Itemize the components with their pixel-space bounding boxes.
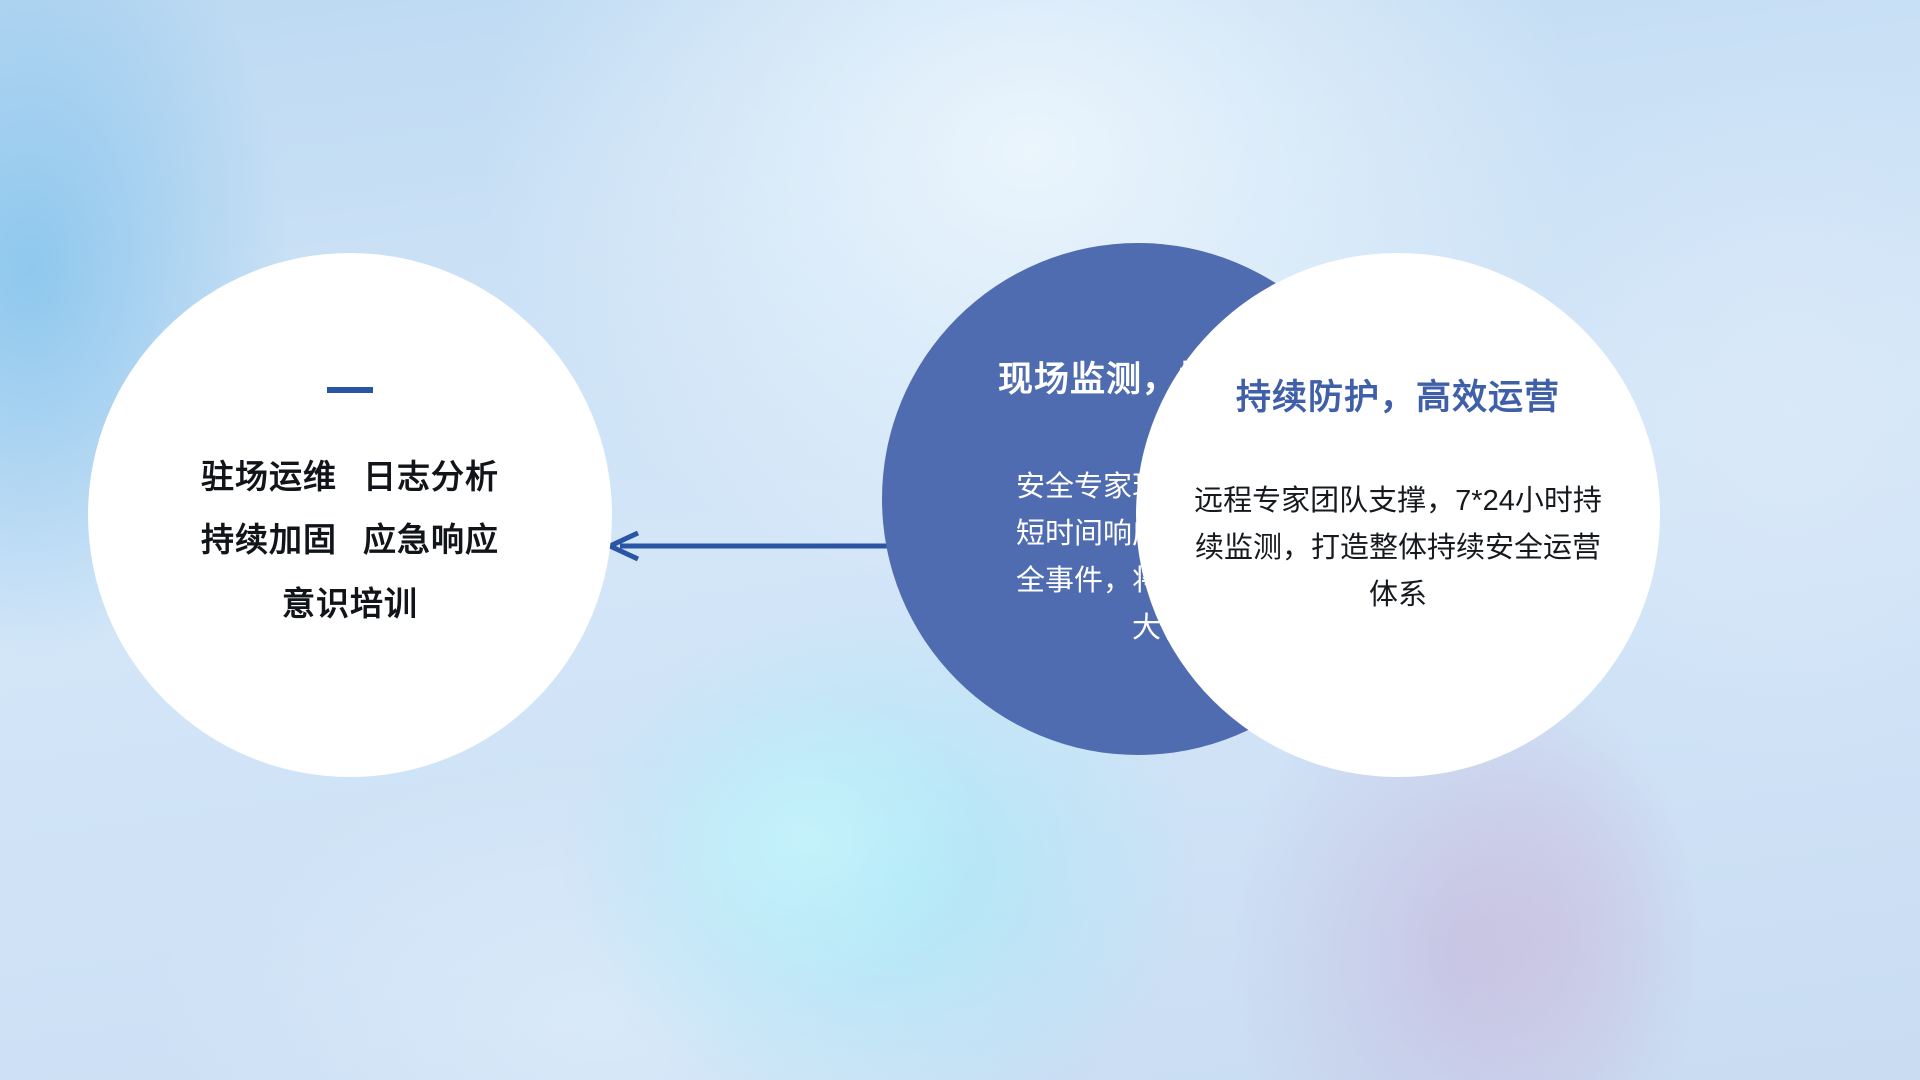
slide-canvas: 驻场运维日志分析 持续加固应急响应 意识培训 现场监测，快速响应 安全专家现场保…: [0, 0, 1920, 1080]
keyword-list: 驻场运维日志分析 持续加固应急响应 意识培训: [88, 445, 612, 635]
continuous-protection-title: 持续防护，高效运营: [1236, 369, 1560, 420]
continuous-protection-body: 远程专家团队支撑，7*24小时持续监测，打造整体持续安全运营体系: [1192, 478, 1604, 619]
keyword-continuous-hardening: 持续加固: [201, 521, 337, 558]
divider-dash-icon: [327, 387, 373, 393]
continuous-protection-circle-card[interactable]: 持续防护，高效运营 远程专家团队支撑，7*24小时持续监测，打造整体持续安全运营…: [1136, 253, 1660, 777]
arrow-connector: [590, 500, 910, 580]
keyword-row-1: 驻场运维日志分析: [88, 445, 612, 508]
keyword-onsite-ops: 驻场运维: [201, 458, 337, 495]
keyword-row-2: 持续加固应急响应: [88, 508, 612, 571]
keyword-circle-card[interactable]: 驻场运维日志分析 持续加固应急响应 意识培训: [88, 253, 612, 777]
keyword-emergency-response: 应急响应: [363, 521, 499, 558]
keyword-awareness-training: 意识培训: [282, 585, 418, 622]
keyword-log-analysis: 日志分析: [363, 458, 499, 495]
keyword-row-3: 意识培训: [88, 572, 612, 635]
